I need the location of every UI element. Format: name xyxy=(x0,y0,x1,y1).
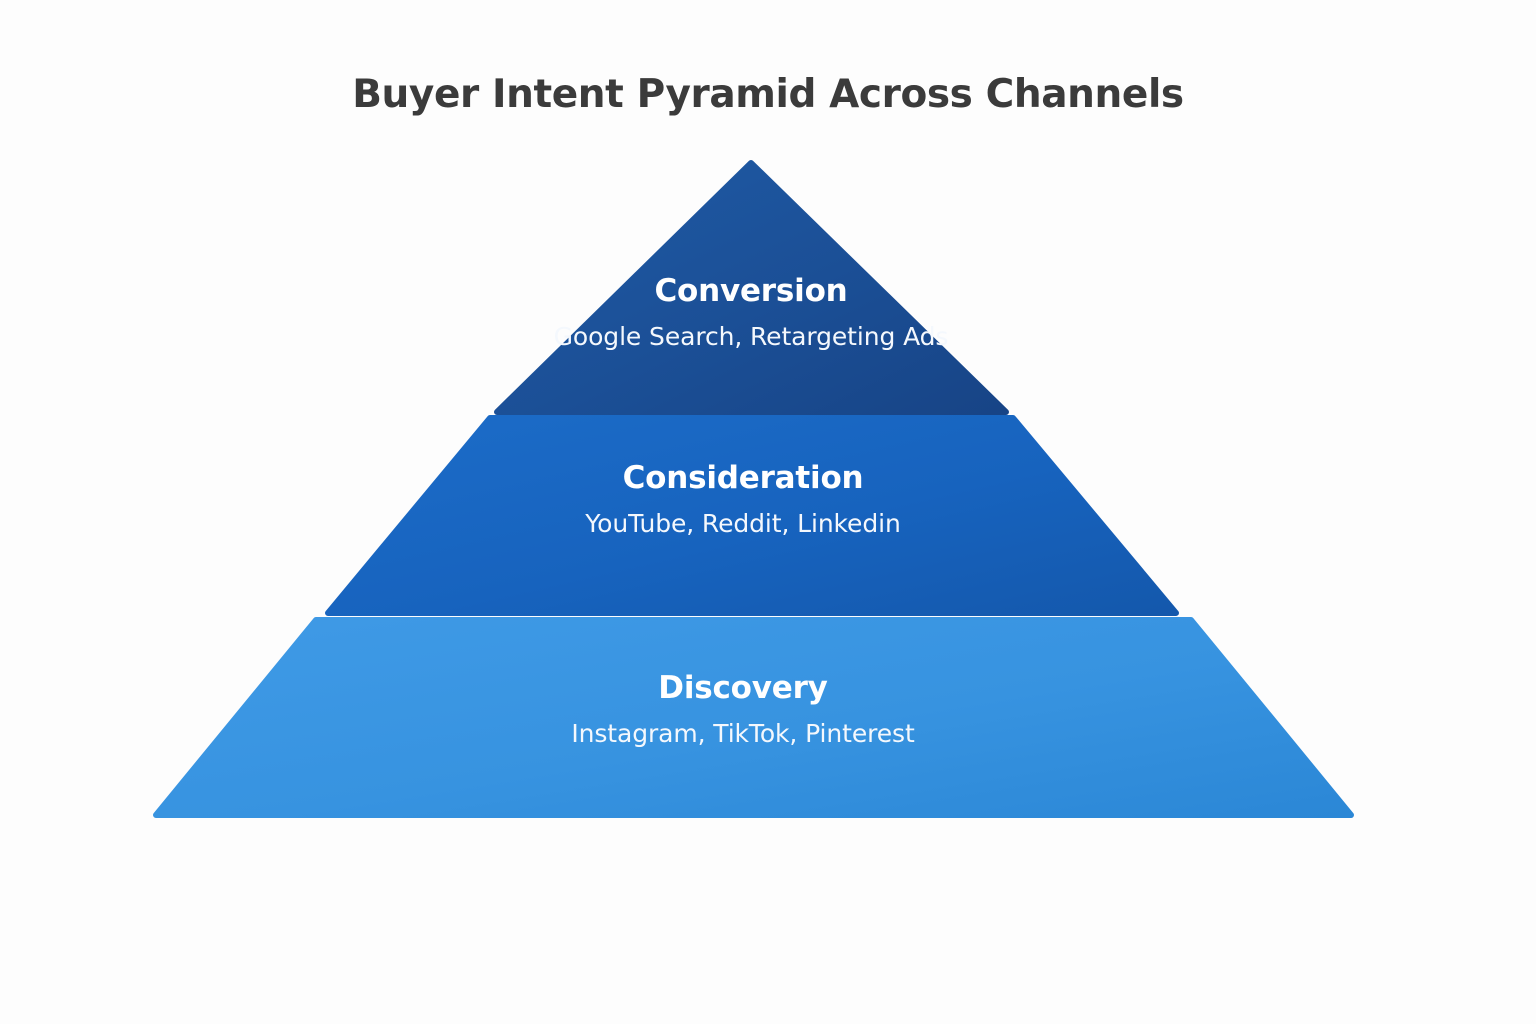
pyramid-graphic xyxy=(0,0,1536,1024)
pyramid-tier-3-shape[interactable] xyxy=(156,620,1351,815)
diagram-canvas: Buyer Intent Pyramid Across Channels xyxy=(0,0,1536,1024)
pyramid-tier-2-shape[interactable] xyxy=(328,418,1176,613)
pyramid-tier-1-shape[interactable] xyxy=(497,163,1006,412)
